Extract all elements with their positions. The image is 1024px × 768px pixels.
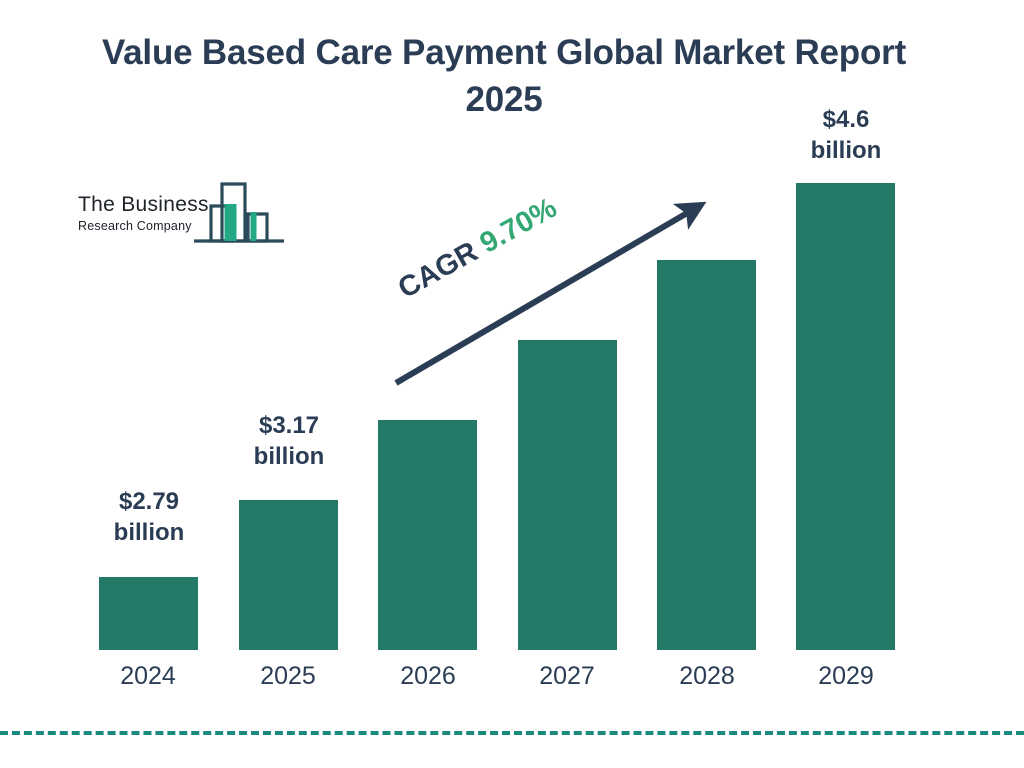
bar-label-2024-line2: billion [89, 518, 209, 549]
cagr-annotation: CAGR 9.70% [393, 192, 563, 306]
bar-2025[interactable] [239, 500, 338, 650]
bar-label-2024: $2.79 billion [89, 487, 209, 548]
x-tick-2025: 2025 [228, 662, 348, 691]
chart-canvas: Value Based Care Payment Global Market R… [0, 0, 1024, 768]
bar-2024[interactable] [99, 577, 198, 650]
cagr-value: 9.70% [475, 192, 562, 260]
bar-label-2025: $3.17 billion [229, 411, 349, 472]
x-tick-2027: 2027 [507, 662, 627, 691]
plot-area: $2.79 billion $3.17 billion $4.6 billion… [0, 0, 1024, 768]
bar-2029[interactable] [796, 183, 895, 650]
bar-label-2024-line1: $2.79 [89, 487, 209, 518]
bar-label-2025-line2: billion [229, 442, 349, 473]
x-tick-2024: 2024 [88, 662, 208, 691]
cagr-word: CAGR [393, 236, 483, 305]
bar-label-2029: $4.6 billion [786, 105, 906, 166]
bar-label-2029-line1: $4.6 [786, 105, 906, 136]
x-tick-2028: 2028 [647, 662, 767, 691]
bar-2028[interactable] [657, 260, 756, 650]
bar-label-2029-line2: billion [786, 136, 906, 167]
bar-2027[interactable] [518, 340, 617, 650]
x-tick-2029: 2029 [786, 662, 906, 691]
x-tick-2026: 2026 [368, 662, 488, 691]
bar-label-2025-line1: $3.17 [229, 411, 349, 442]
bar-2026[interactable] [378, 420, 477, 650]
bottom-divider [0, 731, 1024, 735]
